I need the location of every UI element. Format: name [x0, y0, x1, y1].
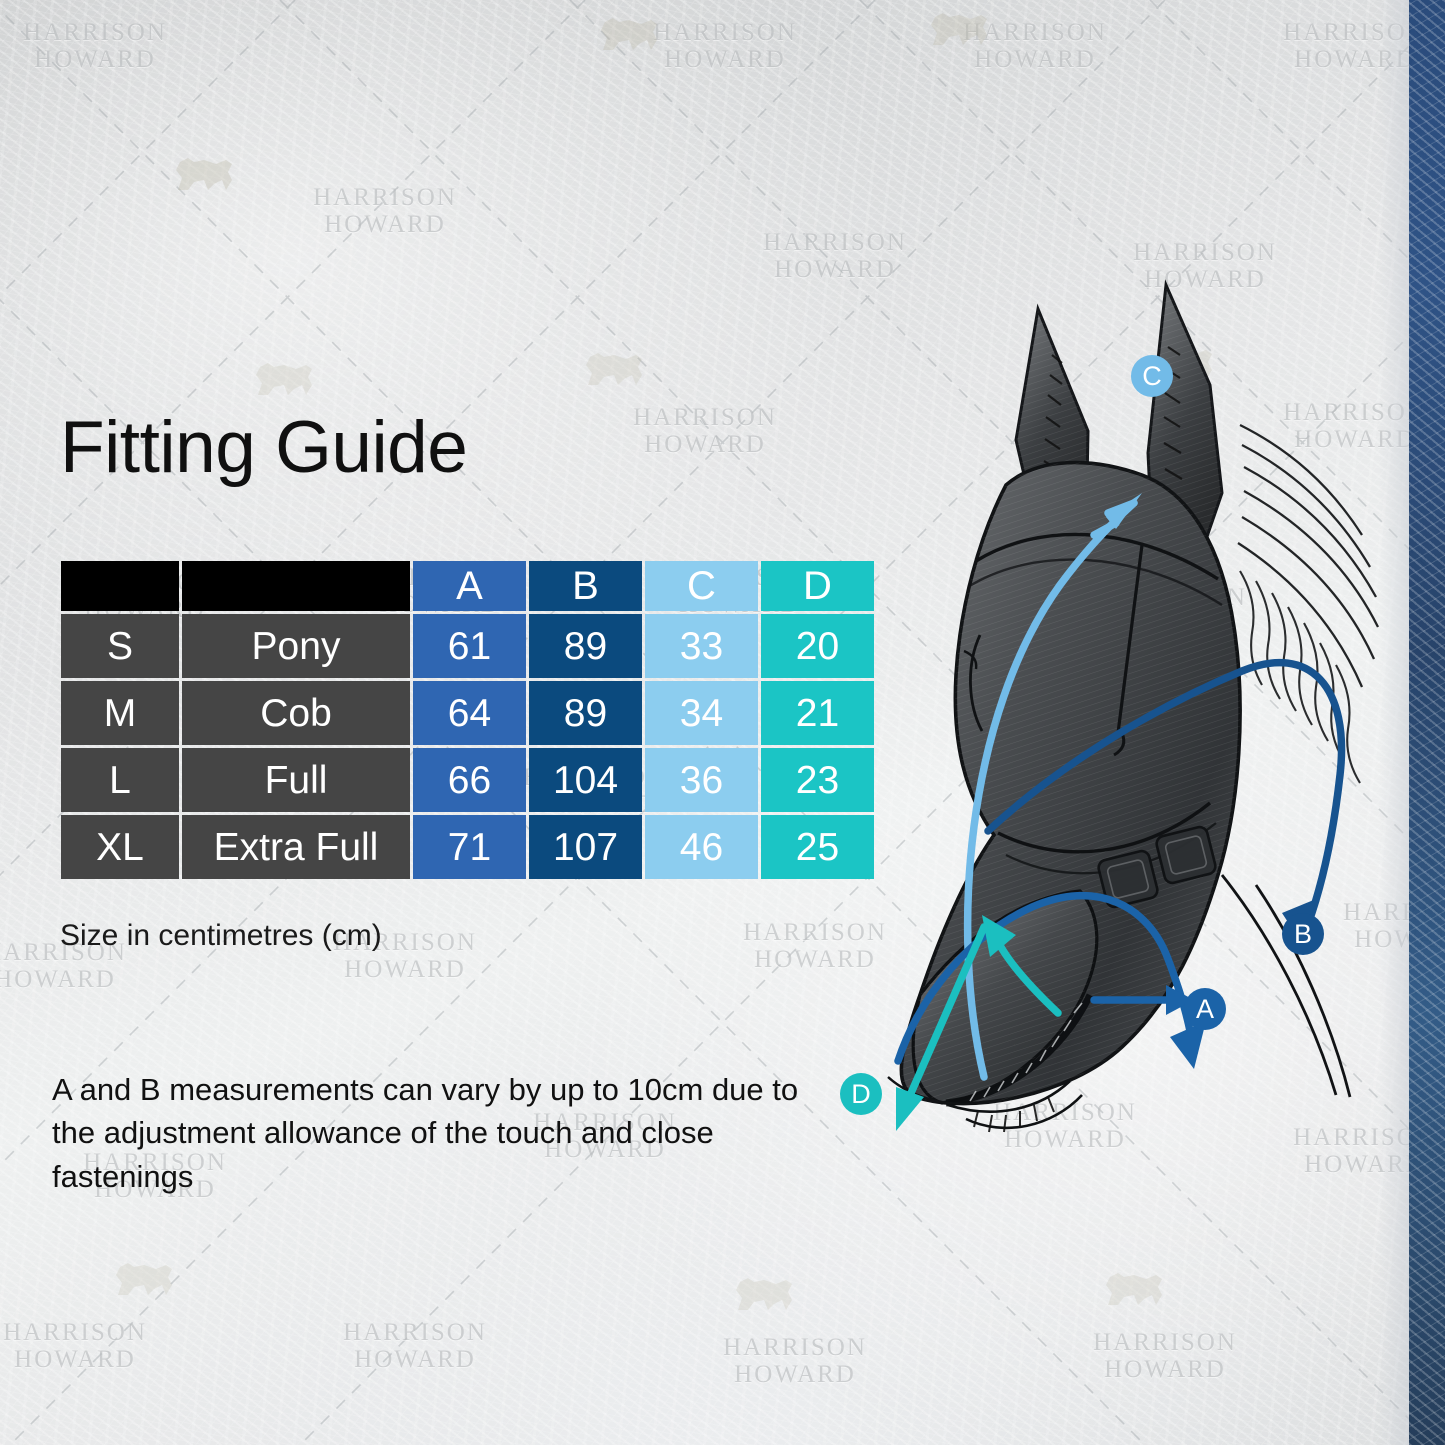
watermark-line1: HARRISON [300, 1320, 530, 1347]
watermark-line2: HOWARD [0, 1347, 190, 1374]
cell-c: 36 [645, 748, 758, 812]
header-cell-c: C [645, 561, 758, 611]
horse-logo-icon [580, 345, 652, 391]
watermark-line2: HOWARD [290, 957, 520, 984]
header-cell-b: B [529, 561, 642, 611]
horse-logo-icon [170, 150, 242, 196]
watermark-line1: HARRISON [0, 20, 210, 47]
table-row: L Full 66 104 36 23 [61, 748, 874, 812]
watermark-line2: HOWARD [300, 1347, 530, 1374]
cell-size: M [61, 681, 179, 745]
cell-c: 34 [645, 681, 758, 745]
cell-size: L [61, 748, 179, 812]
marker-a-label: A [1196, 994, 1214, 1025]
table-row: XL Extra Full 71 107 46 25 [61, 815, 874, 879]
horse-logo-icon [110, 1255, 182, 1301]
marker-d: D [840, 1073, 882, 1115]
watermark-line1: HARRISON [680, 1335, 910, 1362]
cell-size: S [61, 614, 179, 678]
horse-logo-icon [730, 1270, 802, 1316]
cell-name: Extra Full [182, 815, 410, 879]
cell-a: 71 [413, 815, 526, 879]
cell-b: 89 [529, 681, 642, 745]
sizing-table: A B C D S Pony 61 89 33 20 M Cob 64 89 3… [58, 558, 877, 882]
watermark-line1: HARRISON [270, 185, 500, 212]
watermark-line2: HOWARD [610, 47, 840, 74]
measurement-variance-note: A and B measurements can vary by up to 1… [52, 1068, 842, 1198]
page-title: Fitting Guide [60, 406, 467, 489]
watermark-line2: HOWARD [1050, 1357, 1280, 1384]
marker-d-label: D [851, 1079, 871, 1110]
cell-a: 64 [413, 681, 526, 745]
header-cell-a: A [413, 561, 526, 611]
table-header-row: A B C D [61, 561, 874, 611]
cell-c: 33 [645, 614, 758, 678]
marker-b-label: B [1294, 919, 1312, 950]
cell-c: 46 [645, 815, 758, 879]
header-cell-blank-2 [182, 561, 410, 611]
cell-size: XL [61, 815, 179, 879]
cell-b: 104 [529, 748, 642, 812]
cell-name: Pony [182, 614, 410, 678]
fitting-guide-page: HARRISON HOWARD HARRISON HOWARD HARRISON… [0, 0, 1445, 1445]
watermark-line2: HOWARD [0, 47, 210, 74]
horse-logo-icon [925, 5, 997, 51]
cell-name: Full [182, 748, 410, 812]
cell-b: 89 [529, 614, 642, 678]
watermark-line2: HOWARD [270, 212, 500, 239]
cell-b: 107 [529, 815, 642, 879]
cell-name: Cob [182, 681, 410, 745]
horse-logo-icon [250, 355, 322, 401]
watermark-line1: HARRISON [920, 20, 1150, 47]
unit-note: Size in centimetres (cm) [60, 919, 382, 953]
marker-c-label: C [1142, 361, 1162, 392]
marker-b: B [1282, 913, 1324, 955]
watermark-line1: HARRISON [0, 1320, 190, 1347]
cell-a: 61 [413, 614, 526, 678]
watermark-line1: HARRISON [610, 20, 840, 47]
header-cell-blank-1 [61, 561, 179, 611]
cell-a: 66 [413, 748, 526, 812]
marker-a: A [1184, 988, 1226, 1030]
horse-logo-icon [1100, 1265, 1172, 1311]
marker-c: C [1131, 355, 1173, 397]
watermark-line1: HARRISON [1050, 1330, 1280, 1357]
watermark-line2: HOWARD [0, 967, 170, 994]
watermark-line2: HOWARD [680, 1362, 910, 1389]
horse-logo-icon [595, 10, 667, 56]
table-row: M Cob 64 89 34 21 [61, 681, 874, 745]
table-row: S Pony 61 89 33 20 [61, 614, 874, 678]
watermark-line2: HOWARD [920, 47, 1150, 74]
